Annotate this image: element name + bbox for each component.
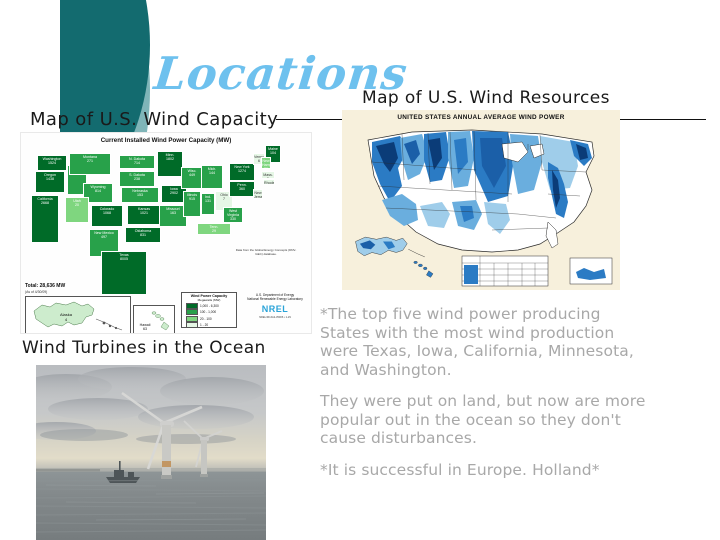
- state-region: Oregon1438: [35, 171, 65, 193]
- state-value: 449: [182, 173, 202, 177]
- inset-alaska: Alaska 4: [25, 296, 131, 334]
- state-region: N. Dakota714: [119, 155, 155, 169]
- state-region: Mass.5: [261, 171, 275, 179]
- state-region: Nebraska153: [121, 187, 159, 203]
- state-region: New York1274: [229, 163, 255, 181]
- legend-subtitle: Megawatts (MW): [182, 298, 236, 302]
- state-value: 153: [122, 193, 158, 197]
- state-value: 1802: [158, 157, 182, 161]
- slide-canvas: Locations Map of U.S. Wind Capacity Map …: [0, 0, 720, 540]
- state-value: 1438: [36, 177, 64, 181]
- state-region: Texas8005: [101, 251, 147, 295]
- state-region: West Virginia330: [223, 207, 243, 223]
- capacity-map-asof: (As of 4/30/09): [25, 290, 47, 294]
- body-text-block: *The top five wind power producing State…: [320, 305, 650, 492]
- state-region: Montana271: [69, 153, 111, 175]
- legend-range-label: 1,000 - 6,300: [200, 304, 219, 308]
- state-region: Kansas1021: [127, 205, 161, 225]
- legend-range-label: 1 - 20: [200, 323, 208, 327]
- legend-range-label: 100 - 1,000: [200, 310, 216, 314]
- state-region: Oklahoma831: [125, 227, 161, 243]
- state-name: New Jersey: [254, 191, 262, 199]
- state-region: Ind.131: [201, 193, 215, 215]
- state-value: 7: [216, 197, 232, 201]
- state-value: 814: [84, 189, 112, 193]
- state-value: 1274: [230, 169, 254, 173]
- legend-swatch: [186, 309, 198, 315]
- state-value: 831: [126, 233, 160, 237]
- state-value: 238: [120, 177, 154, 181]
- capacity-map-title: Current Installed Wind Power Capacity (M…: [21, 137, 311, 144]
- legend-row: 100 - 1,000: [186, 309, 236, 315]
- state-name: Rhode Island: [264, 181, 274, 185]
- heading-wind-capacity: Map of U.S. Wind Capacity: [30, 109, 278, 130]
- heading-wind-resources: Map of U.S. Wind Resources: [362, 88, 610, 108]
- nrel-logo-icon: NREL: [243, 304, 307, 314]
- state-value: 360: [230, 187, 254, 191]
- state-region: Illinois915: [183, 191, 201, 217]
- paragraph-top-five: *The top five wind power producing State…: [320, 305, 650, 379]
- image-us-wind-resources-map: UNITED STATES ANNUAL AVERAGE WIND POWER: [342, 110, 620, 290]
- resources-map-graphic: [342, 110, 620, 290]
- image-us-wind-capacity-map: Current Installed Wind Power Capacity (M…: [20, 132, 312, 334]
- state-value: 26: [262, 167, 270, 169]
- state-region: Wisc.449: [181, 167, 203, 189]
- heading-wind-turbines: Wind Turbines in the Ocean: [22, 338, 266, 358]
- state-region: Washington1524: [37, 155, 67, 171]
- nrel-logo-block: U.S. Department of Energy National Renew…: [243, 293, 307, 319]
- capacity-map-legend: Wind Power Capacity Megawatts (MW) 1,000…: [181, 292, 237, 328]
- legend-swatch: [186, 316, 198, 322]
- legend-row: 1 - 20: [186, 322, 236, 328]
- state-region: Minn.1802: [157, 151, 183, 177]
- state-region: New Jersey8: [253, 189, 263, 199]
- legend-row: 1,000 - 6,300: [186, 303, 236, 309]
- paragraph-europe: *It is successful in Europe. Holland*: [320, 461, 650, 480]
- state-value: 20: [66, 203, 88, 207]
- state-value: 29: [198, 229, 230, 233]
- state-value: 1021: [128, 211, 160, 215]
- state-value: 144: [202, 171, 222, 175]
- legend-row: 20 - 100: [186, 316, 236, 322]
- legend-swatch: [186, 303, 198, 309]
- nrel-logo-note: NREL/MI-6A2-35006 • 1-29: [243, 316, 307, 319]
- legend-rows: 1,000 - 6,300100 - 1,00020 - 1001 - 20: [182, 303, 236, 329]
- state-region: Utah20: [65, 197, 89, 223]
- state-value: 271: [70, 159, 110, 163]
- state-value: 1068: [92, 211, 122, 215]
- paragraph-ocean: They were put on land, but now are more …: [320, 392, 650, 448]
- state-value: 131: [202, 199, 214, 203]
- state-name: New Hampshire: [262, 159, 270, 167]
- state-value: 915: [184, 197, 200, 201]
- state-value: 1524: [38, 161, 66, 165]
- state-name: West Virginia: [224, 209, 242, 217]
- state-region: Tenn.29: [197, 223, 231, 235]
- state-region: S. Dakota238: [119, 171, 155, 187]
- capacity-map-source-note: Data from the Global Energy Concepts (DN…: [235, 249, 297, 256]
- legend-range-label: 20 - 100: [200, 317, 212, 321]
- inset-hawaii: Hawaii 63: [133, 305, 175, 334]
- state-value: 330: [224, 217, 242, 221]
- state-value: 2668: [32, 201, 58, 205]
- agency-line-2: National Renewable Energy Laboratory: [243, 297, 307, 301]
- state-region: Mich.144: [201, 165, 223, 189]
- inset-hawaii-value: 63: [143, 327, 147, 331]
- image-offshore-wind-turbines: [36, 365, 266, 540]
- state-value: 104: [266, 151, 280, 155]
- state-region: Penn.360: [229, 181, 255, 197]
- state-value: 497: [90, 235, 118, 239]
- state-region: New Hampshire26: [261, 157, 271, 169]
- state-value: 714: [120, 161, 154, 165]
- capacity-map-total: Total: 28,636 MW: [25, 283, 65, 289]
- legend-swatch: [186, 322, 198, 328]
- state-value: 8005: [102, 257, 146, 261]
- state-region: Rhode Island2: [263, 179, 275, 185]
- state-region: California2668: [31, 195, 59, 243]
- state-region: Colorado1068: [91, 205, 123, 227]
